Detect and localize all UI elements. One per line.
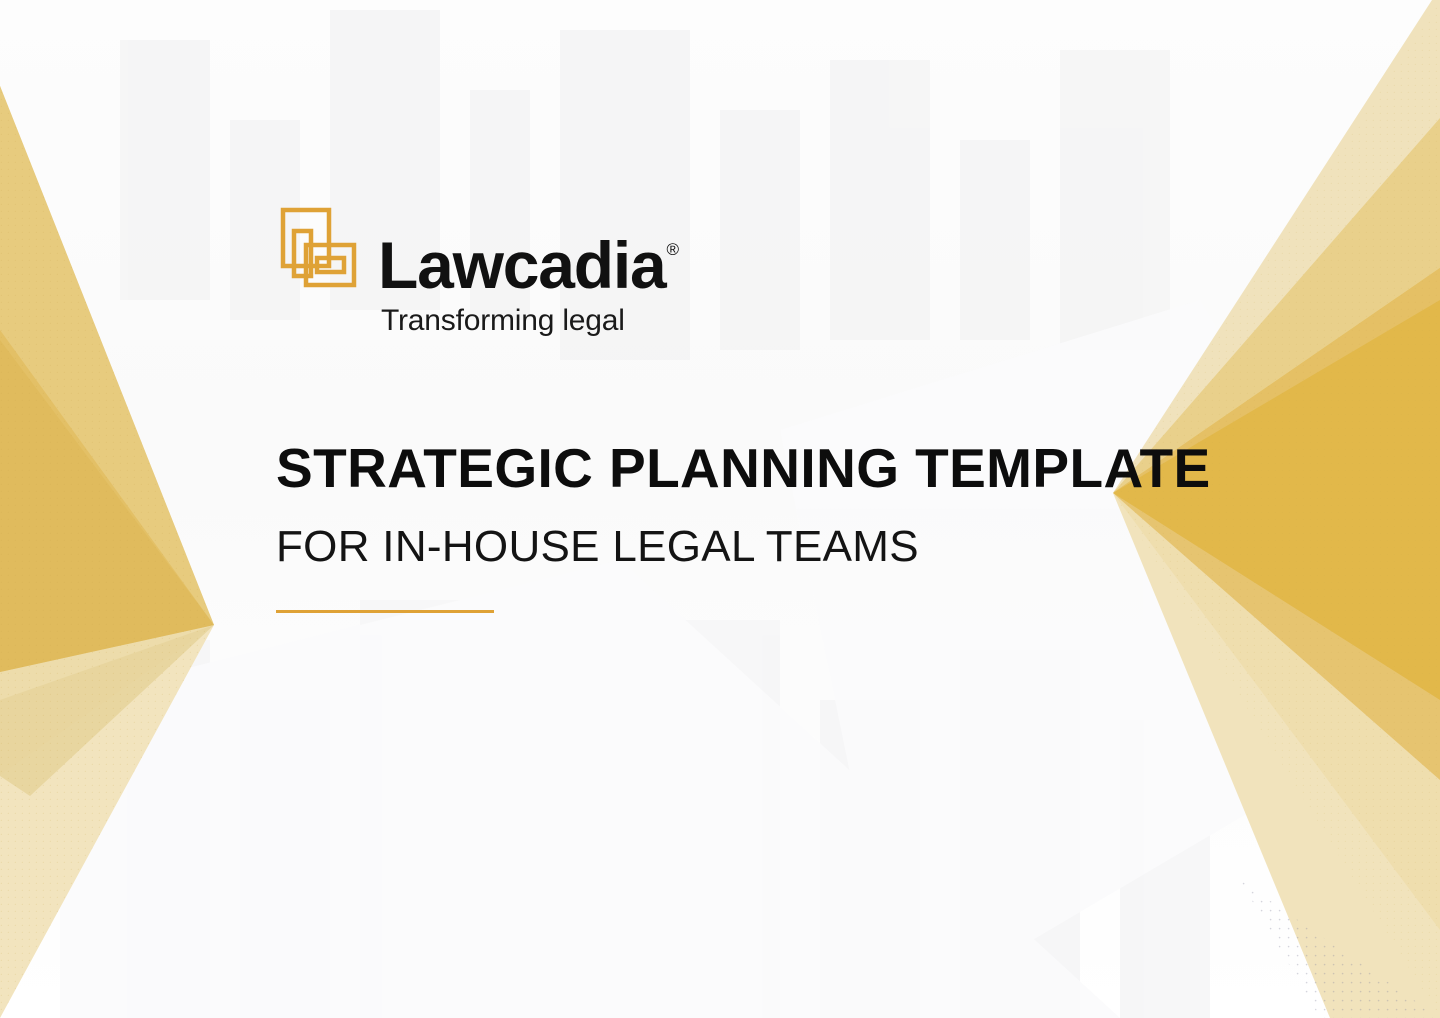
brand-logo: Lawcadia ® Transforming legal bbox=[276, 205, 679, 338]
slide-content: Lawcadia ® Transforming legal STRATEGIC … bbox=[276, 0, 1176, 1018]
lawcadia-mark-icon bbox=[276, 205, 360, 297]
brand-name: Lawcadia bbox=[378, 235, 666, 296]
brand-tagline: Transforming legal bbox=[381, 304, 679, 338]
title-divider bbox=[276, 610, 494, 613]
registered-trademark-icon: ® bbox=[667, 241, 680, 258]
title-block: STRATEGIC PLANNING TEMPLATE FOR IN-HOUSE… bbox=[276, 440, 1156, 613]
title-slide: Lawcadia ® Transforming legal STRATEGIC … bbox=[0, 0, 1440, 1018]
page-subtitle: FOR IN-HOUSE LEGAL TEAMS bbox=[276, 524, 1156, 570]
page-title: STRATEGIC PLANNING TEMPLATE bbox=[276, 440, 1156, 498]
brand-wordmark: Lawcadia ® Transforming legal bbox=[378, 205, 679, 338]
